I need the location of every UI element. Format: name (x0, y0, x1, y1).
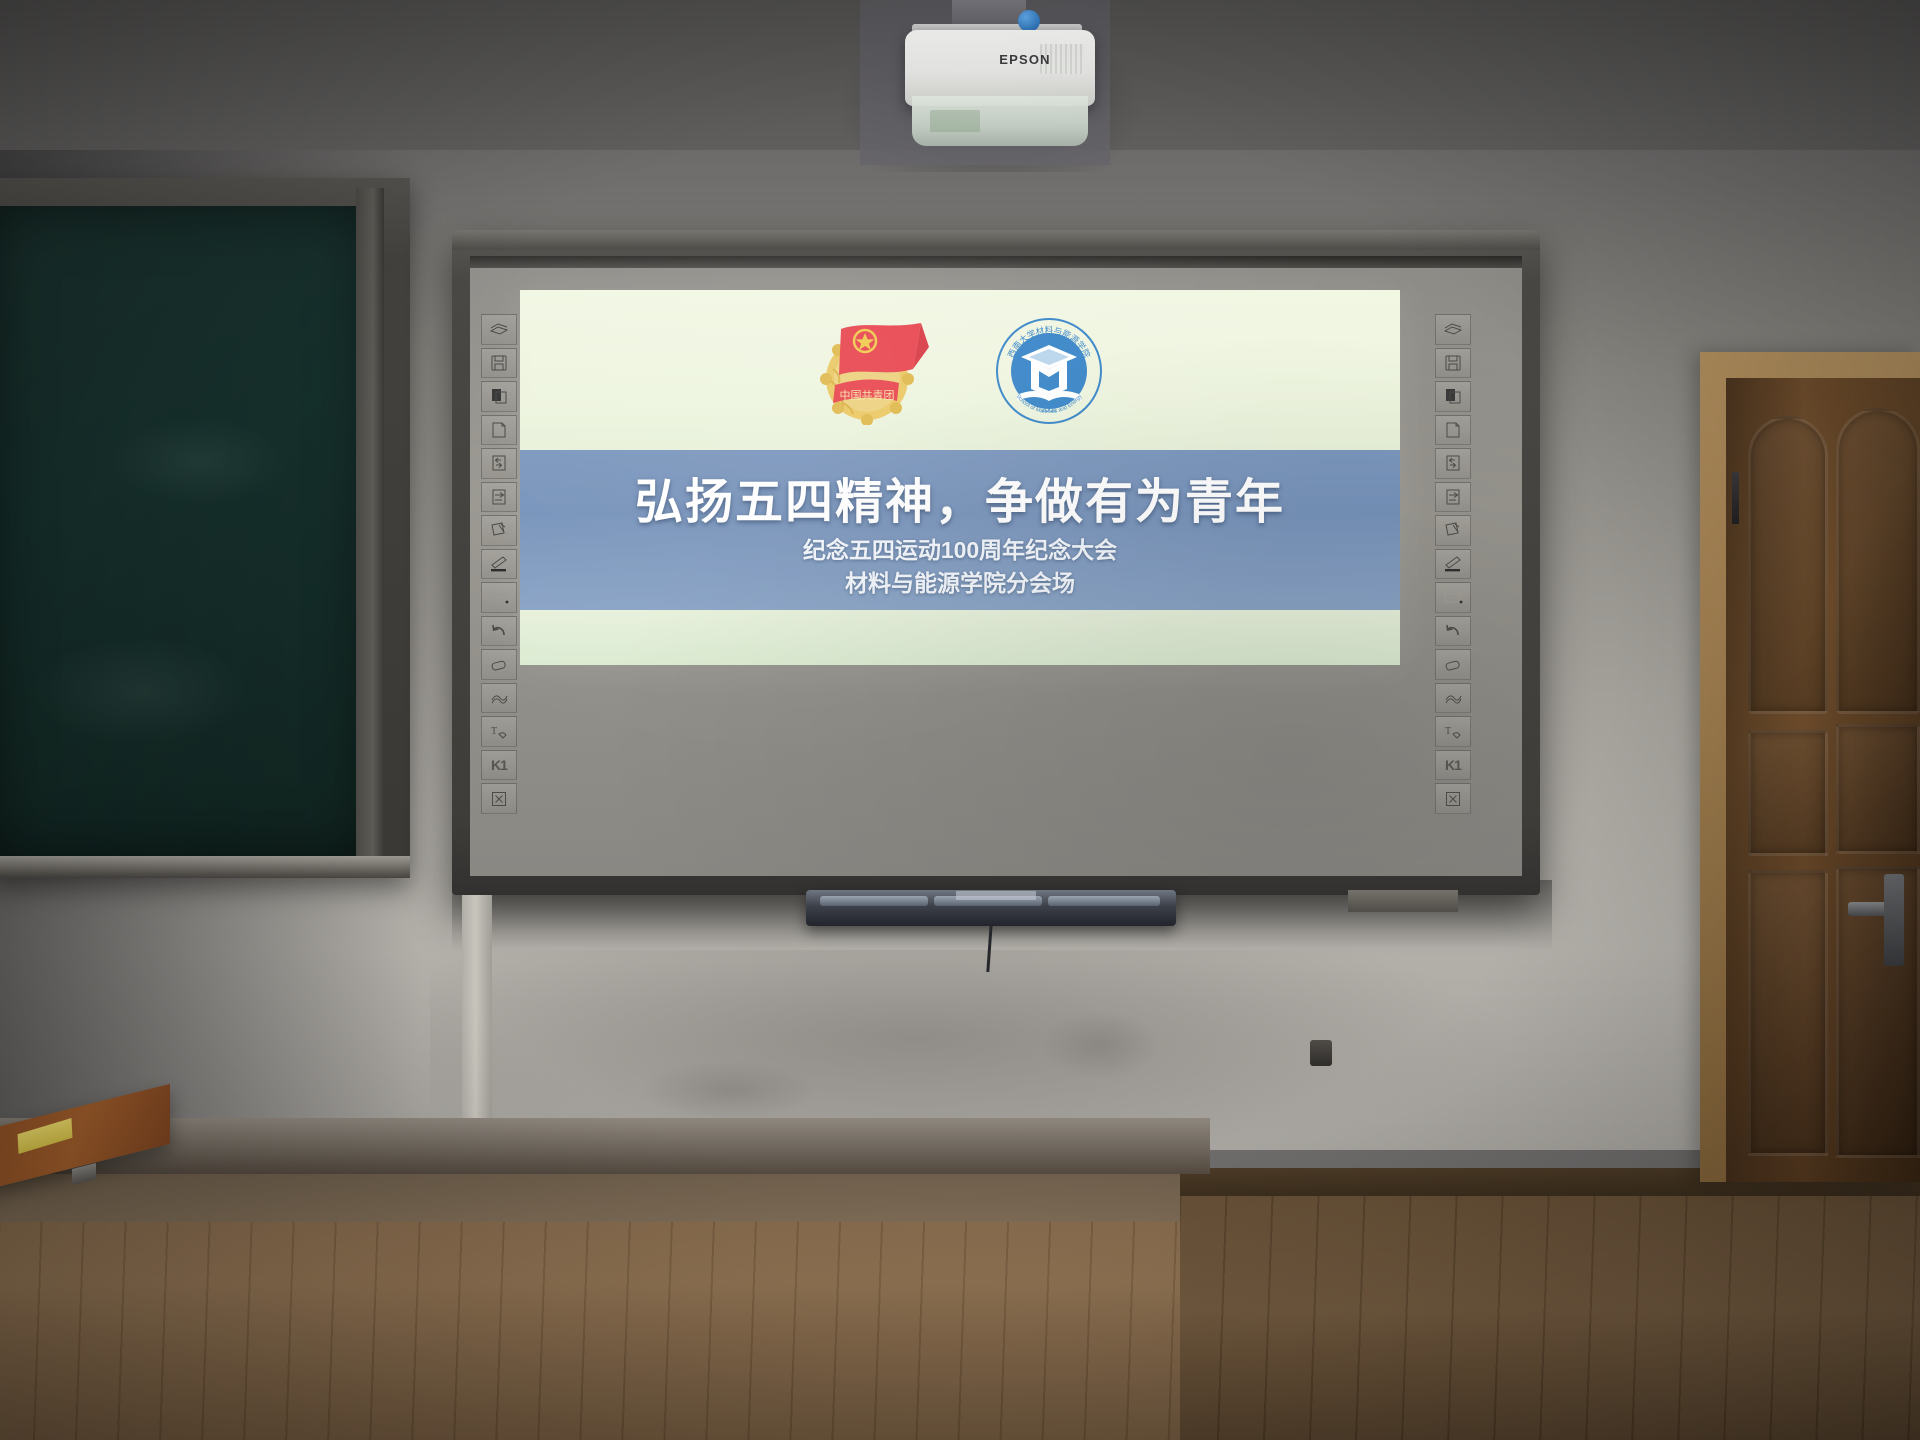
page-back-icon[interactable] (481, 448, 517, 479)
whiteboard-toolbar-left[interactable]: T K1 (478, 312, 520, 814)
svg-text:T: T (491, 726, 497, 737)
projector-indicator-icon (1018, 10, 1040, 32)
projected-slide: 中国共青团 2001 (520, 290, 1400, 665)
slide-subtitle-line-1: 纪念五四运动100周年纪念大会 (520, 534, 1400, 567)
pen-tray[interactable] (806, 890, 1176, 926)
projector-sticker (930, 110, 980, 132)
pen-icon[interactable] (1435, 549, 1471, 580)
svg-text:T: T (1445, 726, 1451, 737)
books-icon[interactable] (1435, 314, 1471, 345)
copy-icon[interactable] (1435, 381, 1471, 412)
text-tool-icon[interactable]: T (1435, 716, 1471, 747)
slide-band-bottom (520, 610, 1400, 665)
save-icon[interactable] (1435, 348, 1471, 379)
pen-icon[interactable] (481, 549, 517, 580)
pen-tray-logo (956, 891, 1036, 900)
projector-brand-label: EPSON (985, 52, 1065, 67)
eraser-icon[interactable] (481, 649, 517, 680)
k1-hotkey-icon[interactable]: K1 (1435, 750, 1471, 781)
chalkboard-surface (0, 206, 372, 858)
chalkboard-divider (356, 188, 384, 878)
wall-socket (1310, 1040, 1332, 1066)
door[interactable] (1726, 378, 1920, 1182)
keyboard-icon[interactable] (1435, 582, 1471, 613)
select-pointer-icon[interactable] (1435, 515, 1471, 546)
text-tool-icon[interactable]: T (481, 716, 517, 747)
select-pointer-icon[interactable] (481, 515, 517, 546)
shape-icon[interactable] (481, 683, 517, 714)
svg-text:中国共青团: 中国共青团 (840, 389, 895, 402)
undo-icon[interactable] (481, 616, 517, 647)
eraser-icon[interactable] (1435, 649, 1471, 680)
books-icon[interactable] (481, 314, 517, 345)
copy-icon[interactable] (481, 381, 517, 412)
wall-stain (640, 1060, 820, 1120)
page-back-icon[interactable] (1435, 448, 1471, 479)
slide-title: 弘扬五四精神，争做有为青年 (520, 462, 1400, 532)
shape-icon[interactable] (1435, 683, 1471, 714)
school-of-materials-and-energy-emblem: 2001 西南大学材料与能源学院 School of Materials and… (995, 317, 1103, 425)
floor-right (1180, 1180, 1920, 1440)
new-page-icon[interactable] (1435, 415, 1471, 446)
board-mount-bracket (1348, 890, 1458, 912)
undo-icon[interactable] (1435, 616, 1471, 647)
door-lock-plate[interactable] (1884, 874, 1904, 966)
slide-subtitle-line-2: 材料与能源学院分会场 (520, 567, 1400, 600)
platform-step (0, 1118, 1210, 1174)
whiteboard-screen-top-edge (470, 256, 1522, 268)
page-forward-icon[interactable] (1435, 482, 1471, 513)
door-hinge (1732, 472, 1739, 524)
chalkboard-chalk-rail (0, 856, 410, 878)
save-icon[interactable] (481, 348, 517, 379)
page-forward-icon[interactable] (481, 482, 517, 513)
keyboard-icon[interactable] (481, 582, 517, 613)
k1-hotkey-icon[interactable]: K1 (481, 750, 517, 781)
wall-stain (1040, 1010, 1160, 1080)
classroom-scene: EPSON (0, 0, 1920, 1440)
new-page-icon[interactable] (481, 415, 517, 446)
whiteboard-toolbar-right[interactable]: T K1 (1432, 312, 1474, 814)
slide-emblem-row: 中国共青团 2001 (520, 306, 1400, 436)
close-icon[interactable] (1435, 783, 1471, 814)
communist-youth-league-emblem: 中国共青团 (817, 317, 935, 425)
whiteboard-bezel-top (452, 230, 1540, 250)
close-icon[interactable] (481, 783, 517, 814)
slide-subtitle: 纪念五四运动100周年纪念大会 材料与能源学院分会场 (520, 534, 1400, 599)
